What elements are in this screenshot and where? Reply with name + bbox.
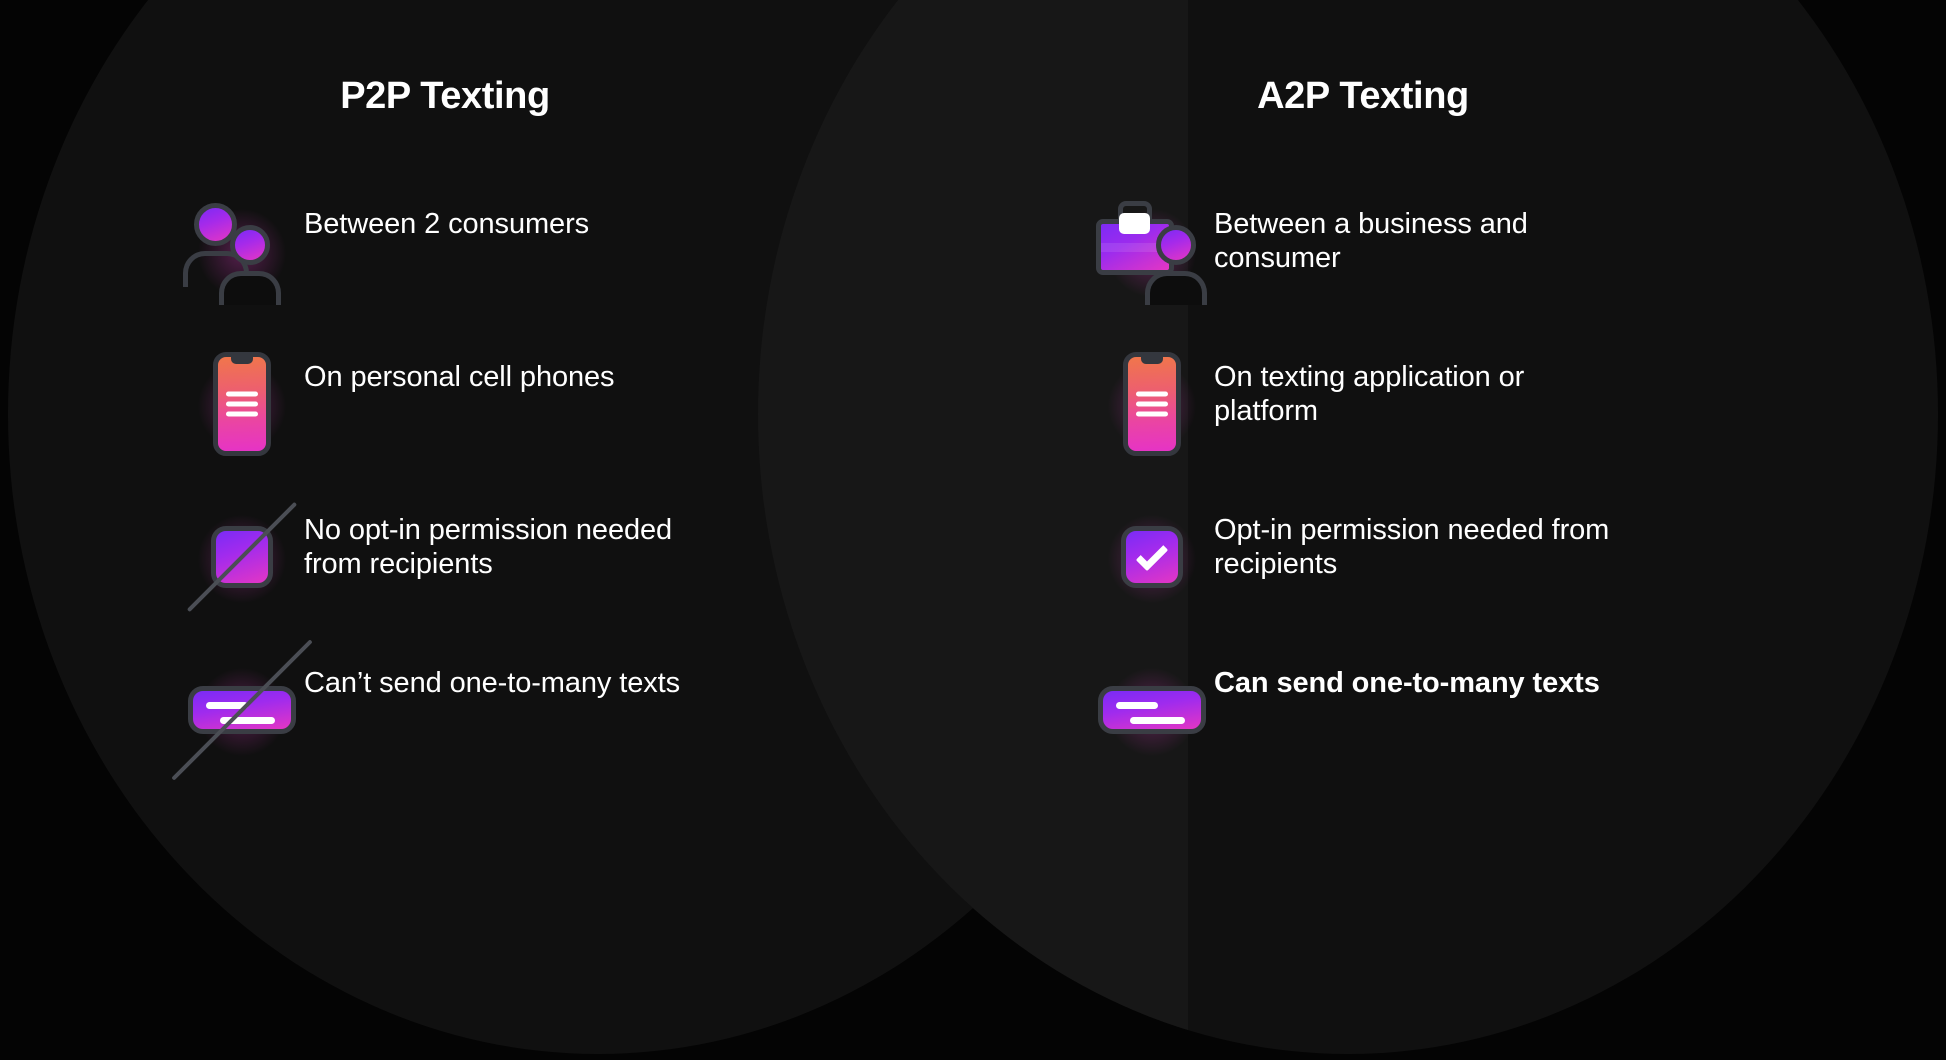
p2p-column: P2P Texting Between 2 consumers [30, 0, 860, 1060]
checkbox-checked-icon [1090, 502, 1214, 612]
a2p-column-title: A2P Texting [930, 75, 1778, 118]
broadcast-struck-icon [180, 655, 304, 765]
a2p-column: A2P Texting Between a business and [930, 0, 1760, 1060]
person-front-body [219, 271, 281, 305]
strikethrough-slash-icon [187, 502, 297, 612]
p2p-feature-list: Between 2 consumers On personal cell pho… [180, 196, 880, 808]
briefcase-person-glyph [1094, 199, 1210, 303]
checkbox-square [1121, 526, 1183, 588]
phone-notch [231, 357, 253, 364]
person-front-body [1145, 271, 1207, 305]
list-item: On personal cell phones [180, 349, 880, 502]
checkmark-icon [1136, 539, 1169, 572]
list-item-label: Opt-in permission needed from recipients [1214, 502, 1634, 581]
list-item: On texting application or platform [1090, 349, 1790, 502]
briefcase-person-icon [1090, 196, 1214, 306]
checkbox-struck-glyph [211, 526, 273, 588]
mobile-phone-icon [1090, 349, 1214, 459]
person-front-head [1156, 225, 1196, 265]
mobile-phone-glyph [1123, 352, 1181, 456]
two-people-glyph [188, 199, 296, 303]
list-item: Can send one-to-many texts [1090, 655, 1790, 808]
list-item: No opt-in permission needed from recipie… [180, 502, 880, 655]
phone-message-lines [1136, 392, 1168, 417]
a2p-feature-list: Between a business and consumer On texti… [1090, 196, 1790, 808]
list-item: Between a business and consumer [1090, 196, 1790, 349]
phone-message-lines [226, 392, 258, 417]
person-front-head [230, 225, 270, 265]
venn-comparison-graphic: P2P Texting Between 2 consumers [0, 0, 1946, 1060]
list-item-label: Between a business and consumer [1214, 196, 1634, 275]
broadcast-icon [1090, 655, 1214, 765]
list-item: Opt-in permission needed from recipients [1090, 502, 1790, 655]
list-item-label: Can’t send one-to-many texts [304, 655, 680, 700]
phone-notch [1141, 357, 1163, 364]
list-item: Between 2 consumers [180, 196, 880, 349]
list-item-label: On personal cell phones [304, 349, 614, 394]
p2p-column-title: P2P Texting [30, 75, 860, 118]
list-item-label: Can send one-to-many texts [1214, 655, 1600, 700]
mobile-phone-icon [180, 349, 304, 459]
list-item-label: On texting application or platform [1214, 349, 1634, 428]
list-item-label: No opt-in permission needed from recipie… [304, 502, 724, 581]
broadcast-bar [1098, 686, 1206, 734]
two-people-icon [180, 196, 304, 306]
list-item-label: Between 2 consumers [304, 196, 589, 241]
broadcast-struck-glyph [188, 686, 296, 734]
checkbox-struck-icon [180, 502, 304, 612]
mobile-phone-glyph [213, 352, 271, 456]
briefcase-latch [1119, 213, 1150, 234]
list-item: Can’t send one-to-many texts [180, 655, 880, 808]
